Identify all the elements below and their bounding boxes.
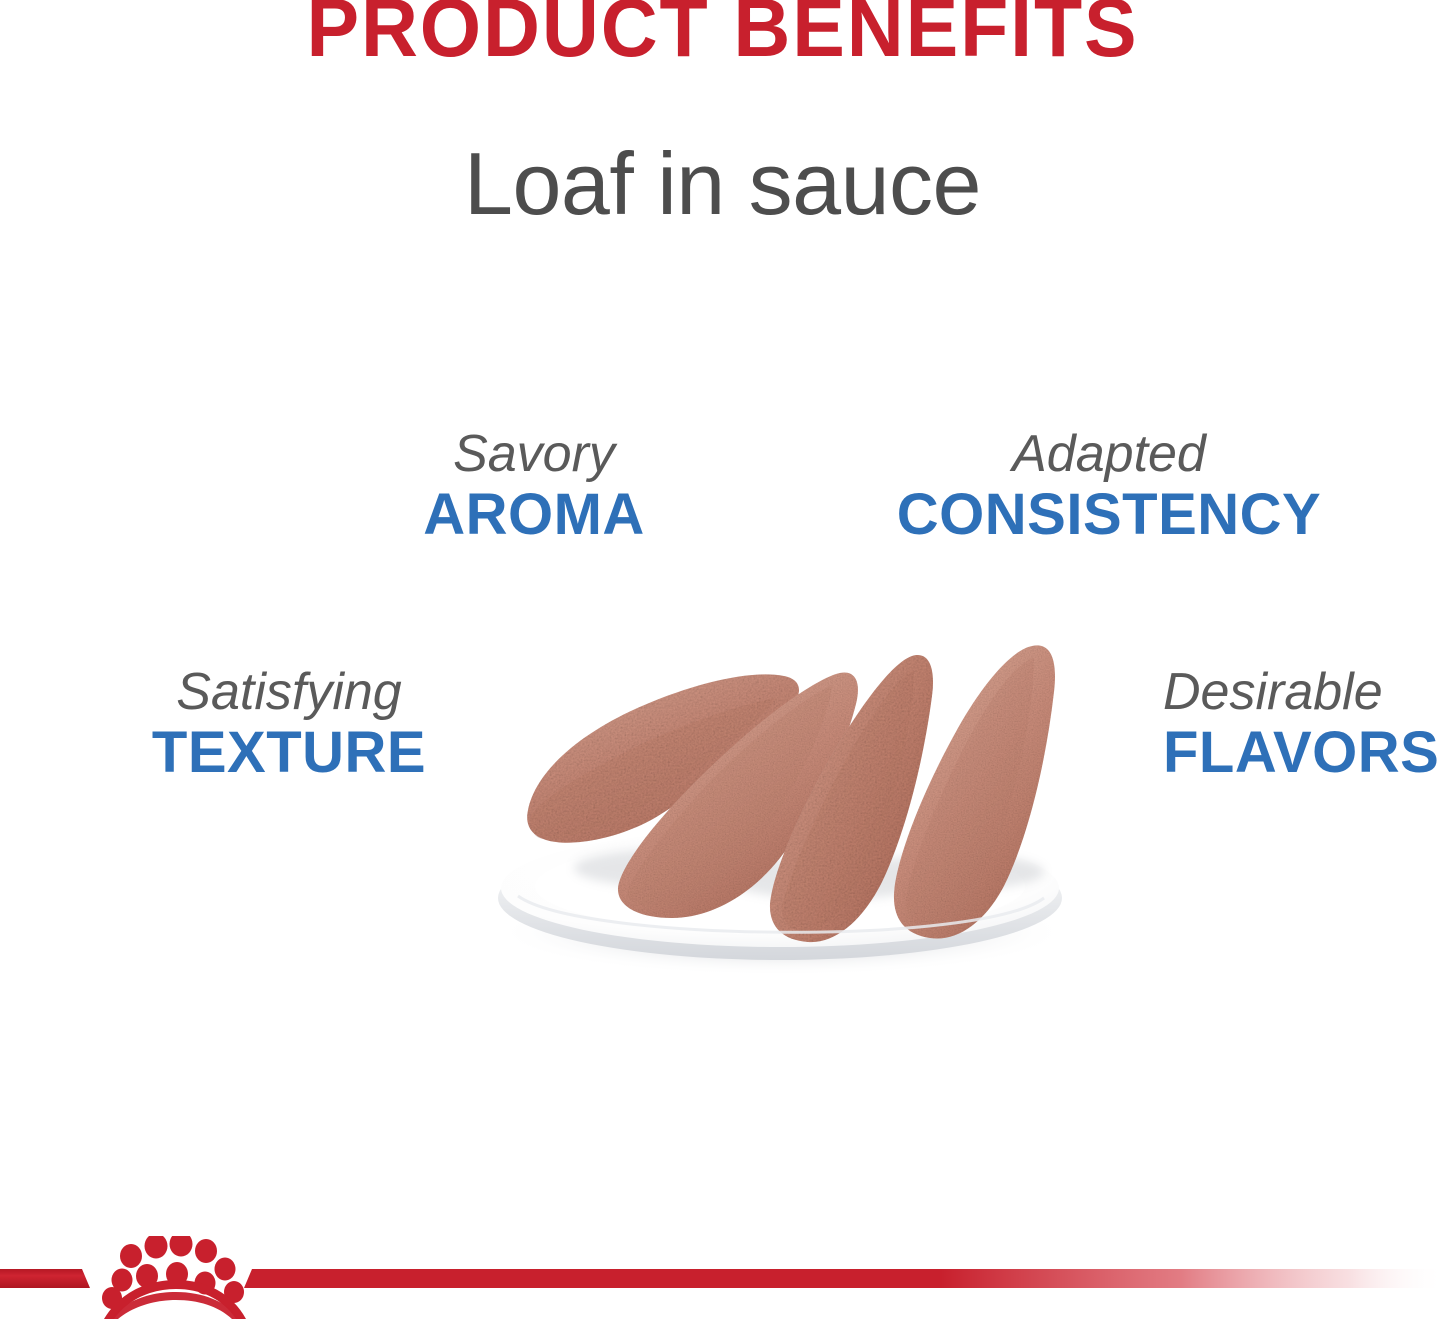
benefit-texture: Satisfying TEXTURE bbox=[140, 666, 438, 782]
benefit-aroma: Savory AROMA bbox=[418, 428, 650, 544]
royal-canin-crown-icon bbox=[102, 1236, 246, 1319]
benefit-flavors-label: FLAVORS bbox=[1163, 723, 1445, 782]
benefit-texture-label: TEXTURE bbox=[140, 723, 438, 782]
product-benefits-panel: PRODUCT BENEFITS Loaf in sauce Savory AR… bbox=[0, 0, 1445, 1319]
page-eyebrow: PRODUCT BENEFITS bbox=[36, 0, 1409, 69]
benefit-consistency-adjective: Adapted bbox=[874, 428, 1344, 481]
benefit-aroma-label: AROMA bbox=[418, 485, 650, 544]
benefit-texture-adjective: Satisfying bbox=[140, 666, 438, 719]
footer-brand-band bbox=[0, 1236, 1445, 1319]
footer-rule-left bbox=[0, 1269, 90, 1288]
benefit-consistency: Adapted CONSISTENCY bbox=[874, 428, 1344, 544]
page-title: Loaf in sauce bbox=[0, 140, 1445, 228]
benefit-consistency-label: CONSISTENCY bbox=[874, 485, 1344, 544]
benefit-flavors-adjective: Desirable bbox=[1163, 666, 1445, 719]
benefit-flavors: Desirable FLAVORS bbox=[1163, 666, 1445, 782]
benefit-aroma-adjective: Savory bbox=[418, 428, 650, 481]
footer-rule-right bbox=[244, 1269, 1445, 1288]
product-food-image bbox=[432, 600, 1122, 990]
